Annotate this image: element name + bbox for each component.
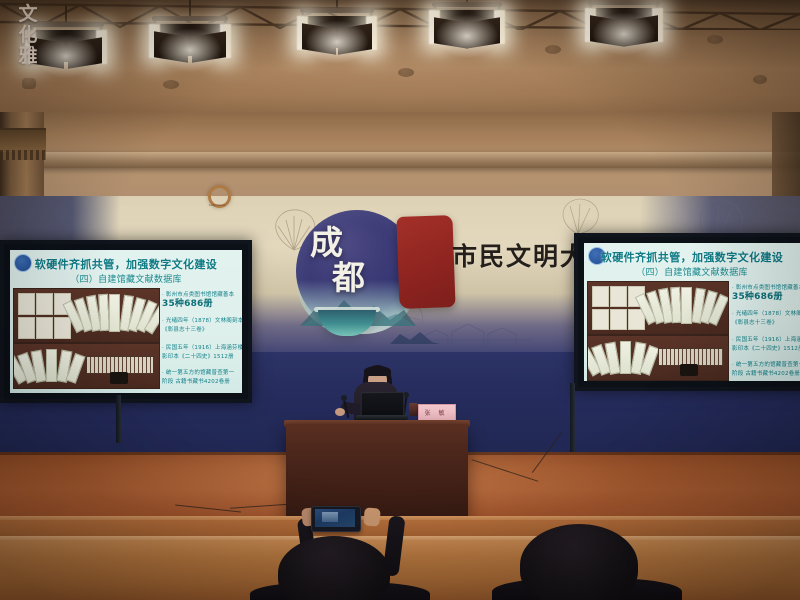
slide-bullet: 影印本《二十四史》1512册: [732, 346, 800, 353]
ceiling-speaker-icon: [545, 45, 561, 54]
ginkgo-leaf-icon: [556, 196, 600, 236]
ceiling-speaker-icon: [163, 80, 179, 89]
slide-bullet: 阶段 古籍书藏书4202卷册: [162, 379, 230, 386]
slide-content: 软硬件齐抓共管，加强数字文化建设 （四）自建馆藏文献数据库: [584, 243, 800, 381]
phone-live-preview: [322, 512, 338, 522]
slide-bullet: 影印本《二十四史》1512册: [162, 354, 234, 361]
roof-truss-icon: [0, 0, 800, 30]
slide-subtitle: （四）自建馆藏文献数据库: [586, 265, 798, 278]
audience-head: [278, 536, 390, 600]
left-projection-screen: 软硬件齐抓共管，加强数字文化建设 （四）自建馆藏文献数据库: [0, 240, 252, 403]
slide-photo-bookshelf: [13, 288, 160, 343]
slide-content: 软硬件齐抓共管，加强数字文化建设 （四）自建馆藏文献数据库: [10, 250, 242, 393]
city-name-char1: 成: [310, 223, 344, 262]
city-name-calligraphy: 成 都: [310, 226, 366, 294]
ceiling-speaker-icon: [753, 75, 767, 84]
stage-light: [300, 8, 374, 52]
stage-light: [432, 2, 502, 44]
speaker-fringe: [364, 366, 391, 376]
slide-bullet: · 统一第五方的馆藏普查第一: [162, 370, 234, 377]
slide-title: 软硬件齐抓共管，加强数字文化建设: [12, 256, 240, 272]
slide-photo-scanning: [13, 343, 160, 389]
foreground-rocks-icon: [390, 326, 440, 344]
slide-bullet: 阶段 古籍书藏书4202卷册: [732, 371, 800, 378]
city-name-char2: 都: [332, 261, 366, 294]
seal-char2: 化: [0, 25, 56, 46]
slide-photo-scanning: [587, 335, 729, 381]
screen-stand-leg: [116, 395, 121, 443]
screen-stand-leg: [570, 383, 575, 455]
slide-bullet-highlight: 35种686册: [162, 301, 213, 308]
audience-hand-right: [363, 507, 381, 526]
slide-bullet-highlight: 35种686册: [732, 294, 783, 301]
seal-char3: 雅: [0, 46, 56, 67]
ceiling-speaker-icon: [398, 68, 414, 77]
slide-bullet: · 光绪四年（1878）文林阁刻本: [162, 318, 242, 325]
audience-head: [520, 524, 638, 600]
slide-title: 软硬件齐抓共管，加强数字文化建设: [586, 249, 798, 265]
slide-bullet: · 彰州市点类图书馆馆藏善本: [732, 285, 800, 292]
right-projection-screen: 软硬件齐抓共管，加强数字文化建设 （四）自建馆藏文献数据库: [574, 233, 800, 391]
seal-char1: 文: [0, 4, 56, 25]
slide-photo-bookshelf: [587, 281, 729, 335]
column-frieze-ornament: [0, 150, 46, 160]
slide-bullet: 《彰县志十三卷》: [732, 320, 778, 327]
slide-bullet: · 民国五年（1916）上海涵芬楼: [732, 337, 800, 344]
seal-text: 文 化 雅: [0, 4, 56, 92]
wall-beam: [0, 152, 800, 168]
venue-logo-label: CHENGDU: [198, 203, 236, 207]
water-cup: [409, 403, 418, 416]
slide-bullet: 《彰县志十三卷》: [162, 327, 208, 334]
speaker-hand: [335, 408, 345, 416]
red-seal-graphic: [396, 215, 455, 309]
column-capital: [0, 128, 46, 152]
stage-light: [588, 0, 660, 42]
slide-bullet: · 统一第五方的馆藏普查第一: [732, 362, 800, 369]
slide-bullet: · 彰州市点类图书馆馆藏善本: [162, 292, 234, 299]
speaker-name-card-text: 张 敏: [418, 408, 454, 417]
lecture-hall-photo: CHENGDU: [0, 0, 800, 600]
slide-bullet: · 民国五年（1916）上海涵芬楼: [162, 345, 242, 352]
stage-light: [152, 16, 228, 62]
ceiling-speaker-icon: [707, 35, 723, 44]
slide-bullet: · 光绪四年（1878）文林阁刻本: [732, 311, 800, 318]
slide-subtitle: （四）自建馆藏文献数据库: [12, 272, 240, 285]
microphone-icon: [341, 395, 347, 401]
